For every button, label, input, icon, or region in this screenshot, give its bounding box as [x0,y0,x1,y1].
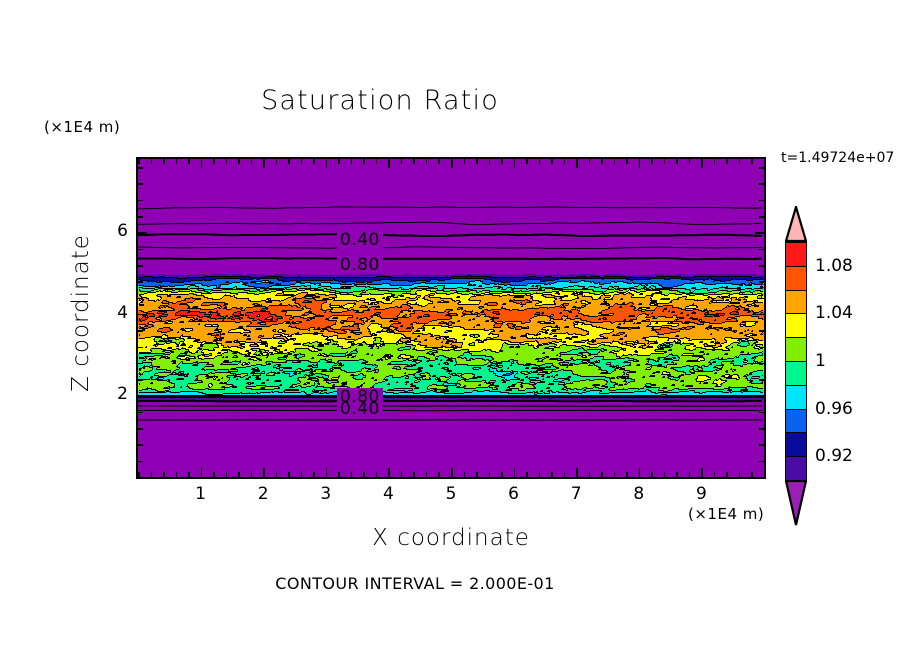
colorbar-tick-label: 0.96 [815,399,853,419]
y-minor-tick [138,330,143,332]
y-minor-tick-right [759,379,764,381]
y-major-tick [138,314,147,316]
x-minor-tick-top [626,159,628,164]
x-minor-tick [664,472,666,477]
x-axis-tick-label: 8 [619,484,659,504]
y-minor-tick-right [759,461,764,463]
y-minor-tick [138,281,143,283]
x-minor-tick [526,472,528,477]
x-major-tick-top [326,159,328,168]
x-minor-tick [539,472,541,477]
x-minor-tick-top [651,159,653,164]
y-minor-tick-right [759,200,764,202]
x-axis-tick-label: 5 [431,484,471,504]
y-major-tick-right [755,314,764,316]
y-minor-tick [138,363,143,365]
x-minor-tick [176,472,178,477]
x-major-tick [326,468,328,477]
colorbar-bottom-arrow [785,480,807,526]
x-minor-tick-top [426,159,428,164]
y-minor-tick [138,379,143,381]
colorbar-band [785,432,807,457]
y-minor-tick-right [759,183,764,185]
x-axis-tick-label: 7 [556,484,596,504]
x-major-tick [201,468,203,477]
x-minor-tick-top [714,159,716,164]
x-minor-tick-top [489,159,491,164]
x-minor-tick-top [301,159,303,164]
x-minor-tick [376,472,378,477]
x-axis-tick-label: 4 [368,484,408,504]
x-minor-tick-top [601,159,603,164]
x-minor-tick [288,472,290,477]
x-minor-tick-top [213,159,215,164]
y-minor-tick-right [759,330,764,332]
x-minor-tick [276,472,278,477]
x-minor-tick-top [351,159,353,164]
x-minor-tick [614,472,616,477]
x-minor-tick-top [313,159,315,164]
x-minor-tick [739,472,741,477]
x-minor-tick-top [138,159,140,164]
x-minor-tick [163,472,165,477]
x-major-tick-top [701,159,703,168]
y-major-tick [138,395,147,397]
x-minor-tick-top [363,159,365,164]
y-minor-tick-right [759,298,764,300]
x-minor-tick-top [464,159,466,164]
y-minor-tick-right [759,265,764,267]
y-minor-tick-right [759,281,764,283]
colorbar-band [785,266,807,291]
x-major-tick [576,468,578,477]
y-minor-tick [138,347,143,349]
x-minor-tick [413,472,415,477]
x-major-tick [451,468,453,477]
x-axis-tick-label: 6 [494,484,534,504]
x-major-tick-top [201,159,203,168]
contour-plot-area: 0.400.800.800.40 [136,157,766,479]
y-minor-tick [138,477,143,479]
contour-interval-caption: CONTOUR INTERVAL = 2.000E-01 [0,574,830,593]
y-minor-tick [138,428,143,430]
y-minor-tick [138,444,143,446]
x-minor-tick-top [163,159,165,164]
x-minor-tick-top [176,159,178,164]
x-major-tick-top [639,159,641,168]
x-minor-tick [601,472,603,477]
y-minor-tick-right [759,249,764,251]
y-minor-tick-right [759,412,764,414]
contour-field-canvas [138,159,764,477]
x-minor-tick-top [739,159,741,164]
x-minor-tick-top [238,159,240,164]
colorbar-band [785,456,807,481]
x-minor-tick-top [614,159,616,164]
x-minor-tick-top [751,159,753,164]
y-minor-tick-right [759,444,764,446]
colorbar-band [785,409,807,434]
y-major-tick-right [755,395,764,397]
x-minor-tick [551,472,553,477]
x-minor-tick-top [501,159,503,164]
y-minor-tick [138,461,143,463]
x-minor-tick [726,472,728,477]
x-minor-tick [714,472,716,477]
y-minor-tick [138,249,143,251]
x-minor-tick-top [338,159,340,164]
x-minor-tick [651,472,653,477]
colorbar-band [785,242,807,267]
colorbar-band [785,290,807,315]
figure-canvas: Saturation Ratio (×1E4 m) (×1E4 m) t=1.4… [0,0,904,654]
x-minor-tick [501,472,503,477]
x-minor-tick-top [188,159,190,164]
y-axis-tick-label: 2 [104,384,128,404]
y-axis-tick-label: 4 [104,303,128,323]
x-major-tick-top [451,159,453,168]
x-major-tick-top [576,159,578,168]
y-axis-unit-label: (×1E4 m) [44,118,120,136]
x-minor-tick-top [551,159,553,164]
x-minor-tick [489,472,491,477]
y-major-tick-right [755,232,764,234]
y-minor-tick [138,183,143,185]
x-minor-tick-top [676,159,678,164]
colorbar-band [785,385,807,410]
x-minor-tick [338,472,340,477]
colorbar-tick-label: 0.92 [815,446,853,466]
x-minor-tick-top [564,159,566,164]
x-minor-tick [476,472,478,477]
x-major-tick-top [514,159,516,168]
x-minor-tick-top [151,159,153,164]
x-minor-tick [626,472,628,477]
x-minor-tick-top [764,159,766,164]
y-axis-tick-label: 6 [104,221,128,241]
y-minor-tick [138,265,143,267]
y-minor-tick-right [759,428,764,430]
x-minor-tick [589,472,591,477]
x-minor-tick-top [251,159,253,164]
x-minor-tick-top [539,159,541,164]
x-minor-tick [251,472,253,477]
x-minor-tick-top [376,159,378,164]
colorbar-tick-label: 1 [815,351,826,371]
x-minor-tick [438,472,440,477]
colorbar-top-arrow [785,206,807,242]
time-annotation: t=1.49724e+07 [781,150,894,166]
contour-line-label: 0.40 [340,230,380,250]
x-minor-tick [401,472,403,477]
x-minor-tick [151,472,153,477]
y-major-tick [138,232,147,234]
x-major-tick [263,468,265,477]
y-minor-tick [138,298,143,300]
colorbar: 1.081.0410.960.92 [785,206,807,526]
x-minor-tick [351,472,353,477]
x-minor-tick [464,472,466,477]
x-minor-tick-top [226,159,228,164]
x-major-tick-top [388,159,390,168]
colorbar-band [785,337,807,362]
x-minor-tick-top [288,159,290,164]
colorbar-band [785,313,807,338]
colorbar-band [785,361,807,386]
x-minor-tick [188,472,190,477]
x-minor-tick-top [413,159,415,164]
x-minor-tick [564,472,566,477]
y-axis-title: Z coordinate [68,223,94,403]
x-axis-unit-label: (×1E4 m) [688,505,764,523]
x-minor-tick-top [664,159,666,164]
x-axis-tick-label: 1 [181,484,221,504]
x-minor-tick-top [589,159,591,164]
x-minor-tick-top [476,159,478,164]
x-axis-tick-label: 2 [243,484,283,504]
y-minor-tick [138,167,143,169]
x-minor-tick-top [438,159,440,164]
colorbar-tick-label: 1.04 [815,303,853,323]
x-major-tick-top [263,159,265,168]
page-title: Saturation Ratio [0,85,760,116]
y-minor-tick-right [759,477,764,479]
x-minor-tick [226,472,228,477]
y-minor-tick [138,216,143,218]
x-minor-tick-top [689,159,691,164]
x-minor-tick [313,472,315,477]
x-major-tick [639,468,641,477]
x-minor-tick [213,472,215,477]
x-minor-tick-top [726,159,728,164]
x-minor-tick [751,472,753,477]
y-minor-tick-right [759,167,764,169]
x-axis-title: X coordinate [136,525,766,551]
x-minor-tick-top [526,159,528,164]
contour-line-label: 0.40 [340,399,380,419]
x-minor-tick [301,472,303,477]
y-minor-tick-right [759,363,764,365]
x-minor-tick [676,472,678,477]
y-minor-tick-right [759,347,764,349]
y-minor-tick [138,200,143,202]
x-minor-tick-top [401,159,403,164]
x-minor-tick [363,472,365,477]
x-minor-tick [426,472,428,477]
x-minor-tick-top [276,159,278,164]
x-minor-tick [764,472,766,477]
x-major-tick [701,468,703,477]
x-minor-tick [689,472,691,477]
y-minor-tick-right [759,216,764,218]
colorbar-tick-label: 1.08 [815,256,853,276]
x-major-tick [514,468,516,477]
contour-line-label: 0.80 [340,255,380,275]
x-axis-tick-label: 9 [681,484,721,504]
x-minor-tick [238,472,240,477]
x-major-tick [388,468,390,477]
y-minor-tick [138,412,143,414]
x-axis-tick-label: 3 [306,484,346,504]
